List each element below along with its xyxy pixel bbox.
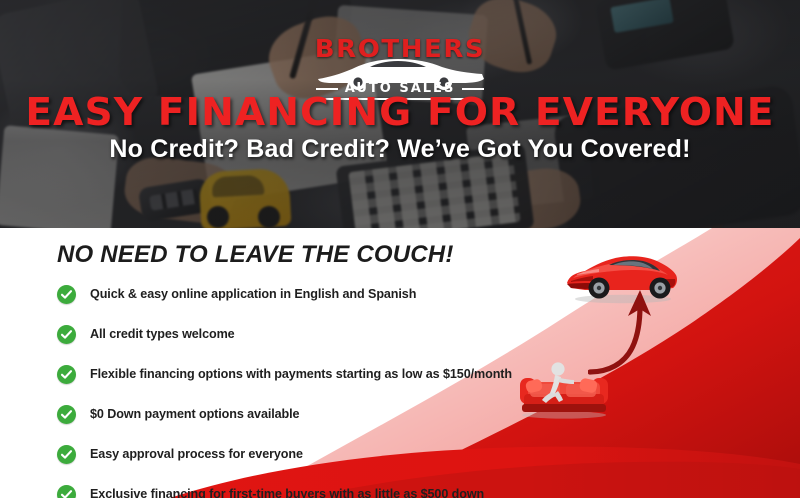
list-item-label: Quick & easy online application in Engli… [90, 287, 416, 301]
financing-ad-banner: BROTHERS AUTO SALES EASY FINANCING FOR E… [0, 0, 800, 498]
list-item: $0 Down payment options available [57, 398, 527, 430]
body-title: NO NEED TO LEAVE THE COUCH! [57, 241, 454, 269]
check-circle-icon [57, 325, 76, 344]
list-item: Flexible financing options with payments… [57, 358, 527, 390]
list-item: All credit types welcome [57, 318, 527, 350]
list-item-label: $0 Down payment options available [90, 407, 299, 421]
list-item: Exclusive financing for first-time buyer… [57, 478, 527, 498]
check-circle-icon [57, 405, 76, 424]
hero-subheadline: No Credit? Bad Credit? We’ve Got You Cov… [0, 135, 800, 164]
list-item: Easy approval process for everyone [57, 438, 527, 470]
list-item-label: All credit types welcome [90, 327, 235, 341]
red-couch-with-person-image [518, 358, 610, 420]
check-circle-icon [57, 445, 76, 464]
list-item-label: Exclusive financing for first-time buyer… [90, 487, 484, 498]
hero-headline: EASY FINANCING FOR EVERYONE [0, 93, 800, 131]
check-circle-icon [57, 485, 76, 498]
benefits-list: Quick & easy online application in Engli… [57, 278, 527, 498]
list-item-label: Easy approval process for everyone [90, 447, 303, 461]
check-circle-icon [57, 365, 76, 384]
hero-section: BROTHERS AUTO SALES EASY FINANCING FOR E… [0, 0, 800, 228]
list-item: Quick & easy online application in Engli… [57, 278, 527, 310]
check-circle-icon [57, 285, 76, 304]
list-item-label: Flexible financing options with payments… [90, 367, 512, 381]
